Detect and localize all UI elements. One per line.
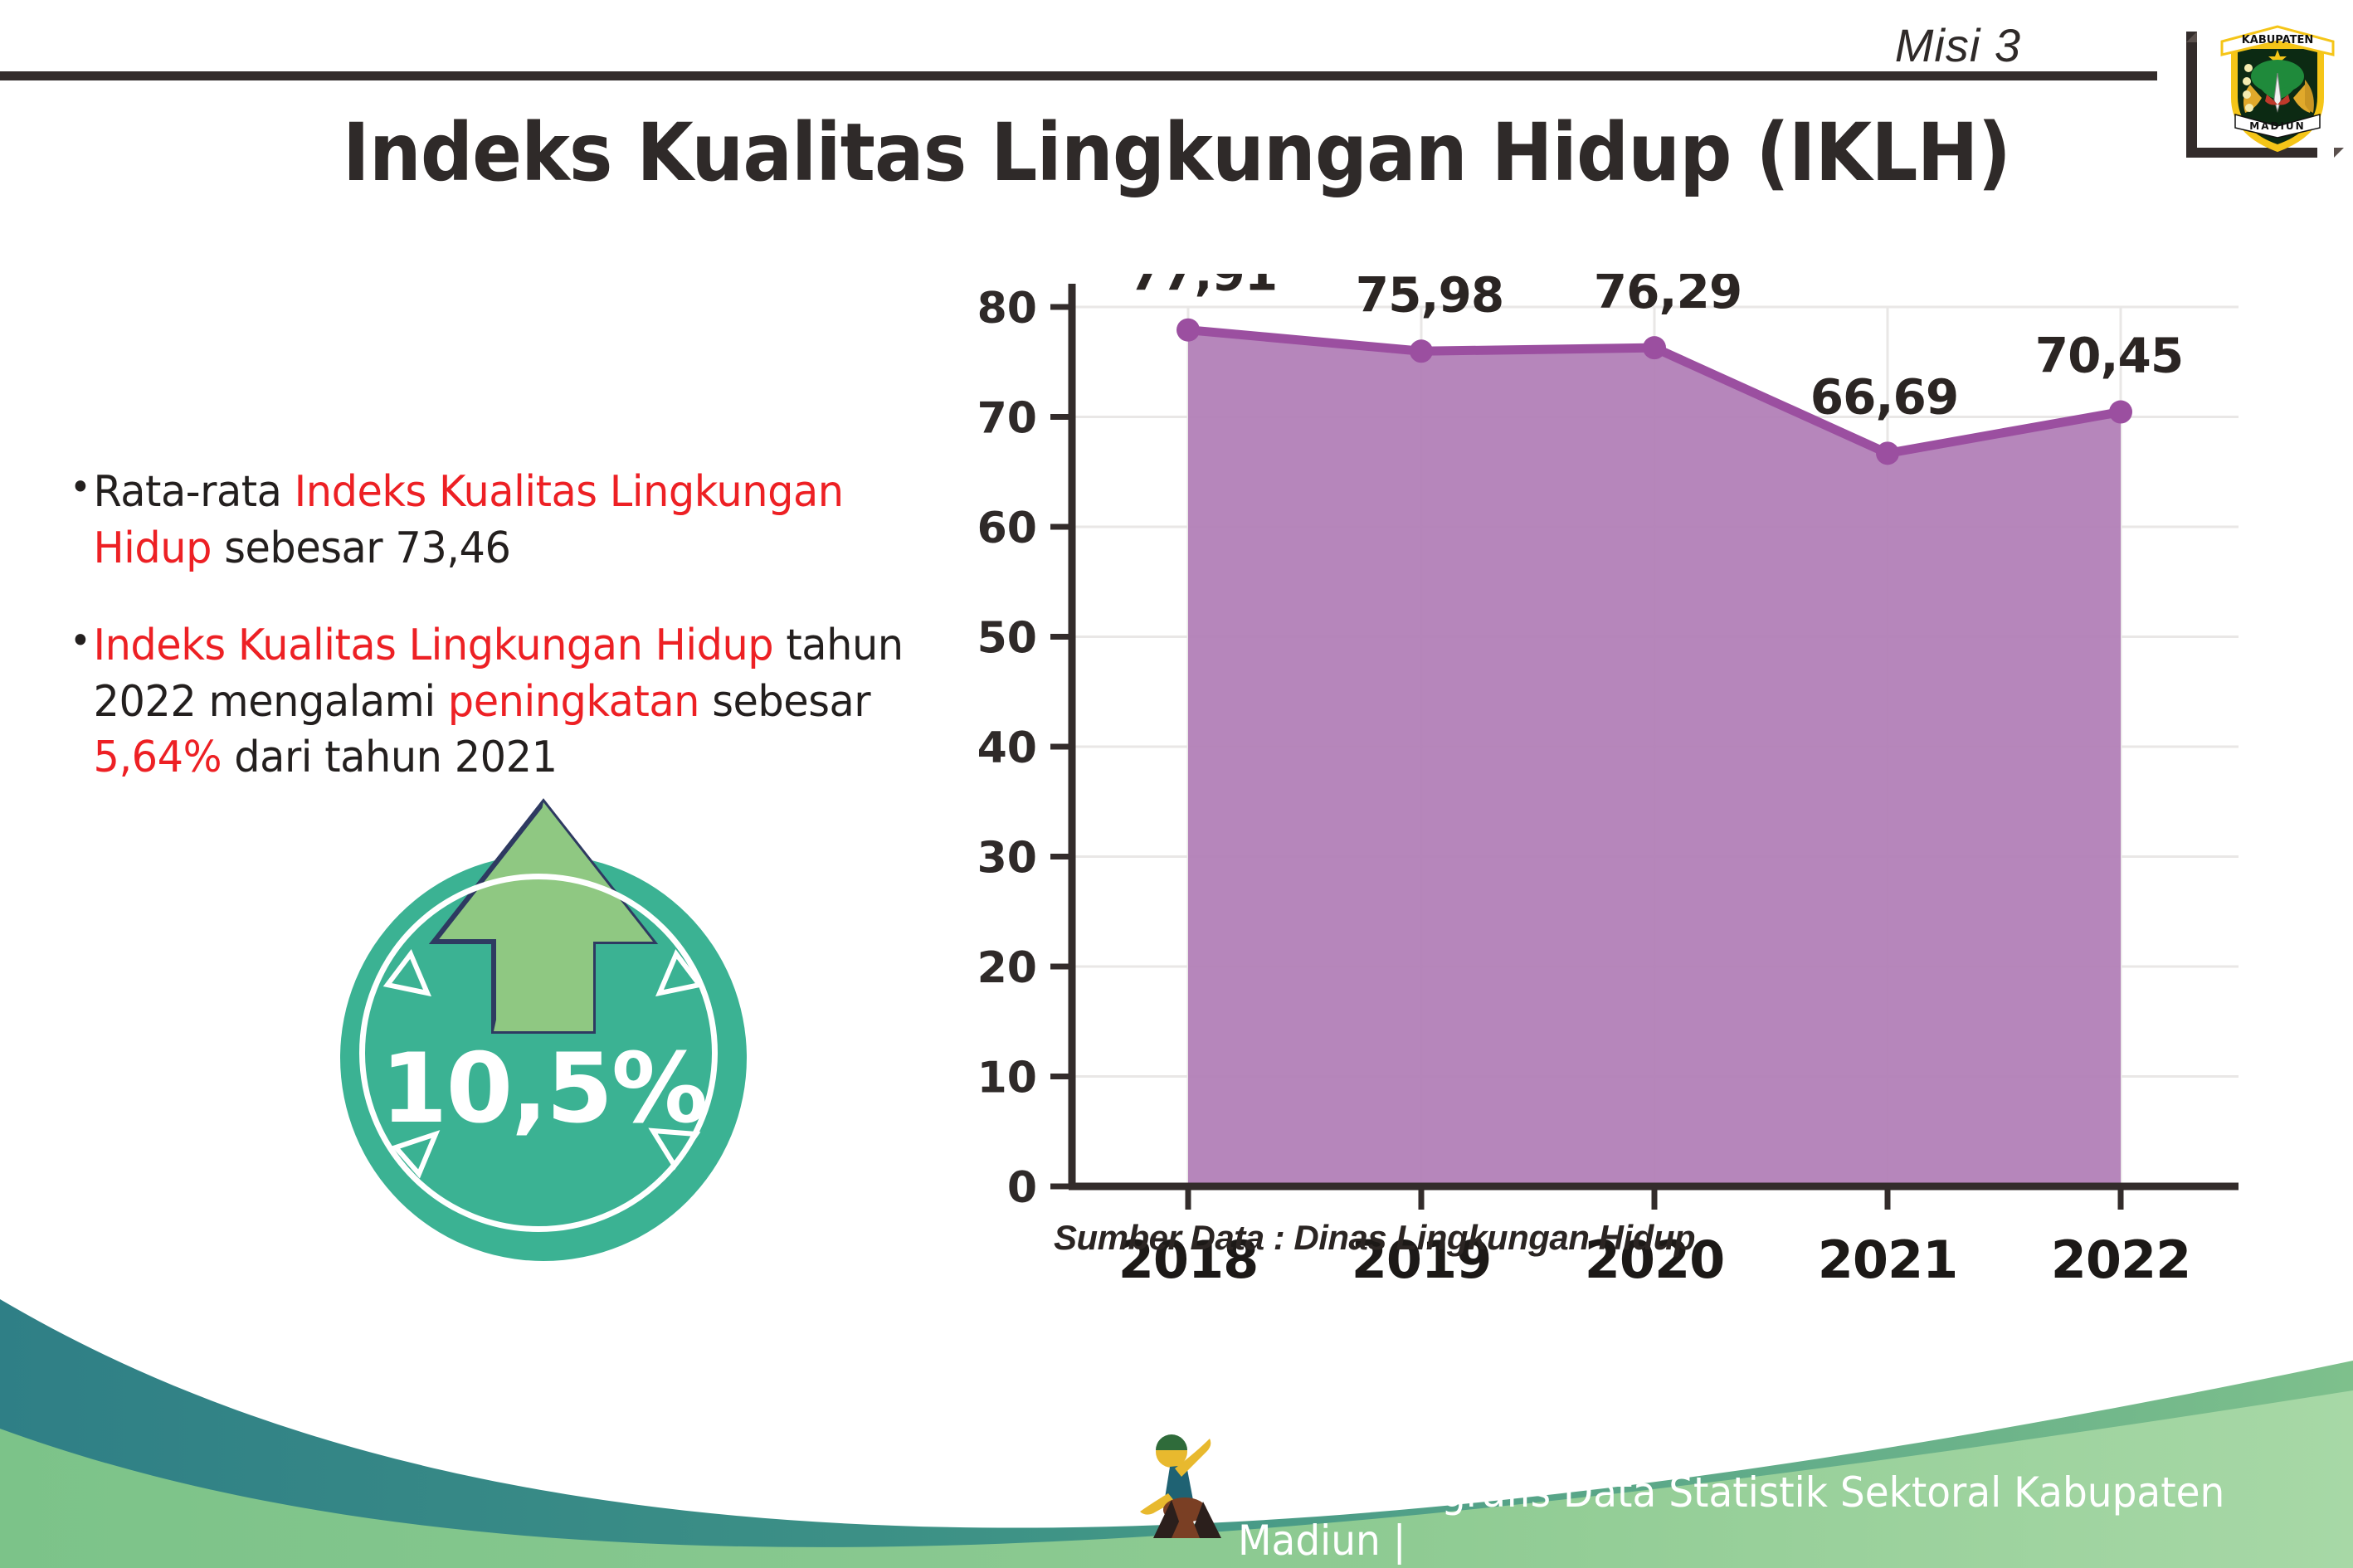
iklh-area-chart: 01020304050607080 20182019202020212022 7… (979, 274, 2307, 1294)
data-point-label: 66,69 (1810, 368, 1958, 425)
media-infografis-logo-icon (1138, 1429, 1231, 1541)
bullet-2-segment-3: peningkatan (448, 677, 699, 727)
y-tick-label: 80 (979, 284, 1037, 334)
y-tick-label: 40 (979, 723, 1037, 773)
misi-label: Misi 3 (1895, 18, 2021, 72)
bracket-notch-top (2186, 32, 2197, 42)
badge-spark-triangles-icon (328, 751, 776, 1215)
bullet-1-segment-1: Rata-rata (94, 467, 295, 517)
bullet-2-segment-4: sebesar (699, 677, 870, 727)
data-point-label: 76,29 (1594, 274, 1742, 319)
y-tick-label: 70 (979, 394, 1037, 444)
bullet-item-average: Rata-rata Indeks Kualitas Lingkungan Hid… (70, 465, 937, 577)
y-tick-label: 0 (1007, 1163, 1037, 1213)
increase-badge: 10,5% (328, 751, 776, 1215)
footer-caption: Media Infografis Data Statistik Sektoral… (1238, 1468, 2286, 1565)
chart-panel: 01020304050607080 20182019202020212022 7… (979, 274, 2307, 1294)
page-title: Indeks Kualitas Lingkungan Hidup (IKLH) (94, 106, 2258, 199)
data-point-label: 70,45 (2035, 328, 2183, 384)
svg-text:KABUPATEN: KABUPATEN (2242, 34, 2314, 46)
y-tick-label: 30 (979, 834, 1037, 884)
chart-y-tick-labels: 01020304050607080 (979, 284, 1037, 1213)
left-text-panel: Rata-rata Indeks Kualitas Lingkungan Hid… (70, 465, 982, 786)
badge-value: 10,5% (328, 1033, 759, 1145)
chart-x-axis (1069, 1186, 2239, 1210)
chart-y-axis (1050, 284, 1072, 1186)
header-divider-rule (0, 71, 2157, 80)
data-point-label: 75,98 (1356, 274, 1503, 323)
data-point-label: 77,91 (1129, 274, 1277, 302)
y-tick-label: 20 (979, 943, 1037, 993)
bullet-1-segment-3: sebesar 73,46 (212, 523, 510, 573)
bullet-2-segment-1: Indeks Kualitas Lingkungan Hidup (94, 621, 774, 670)
y-tick-label: 60 (979, 504, 1037, 553)
bullet-2-segment-5: 5,64% (94, 733, 222, 782)
y-tick-label: 10 (979, 1054, 1037, 1103)
y-tick-label: 50 (979, 614, 1037, 664)
chart-area-series (1188, 330, 2121, 1186)
